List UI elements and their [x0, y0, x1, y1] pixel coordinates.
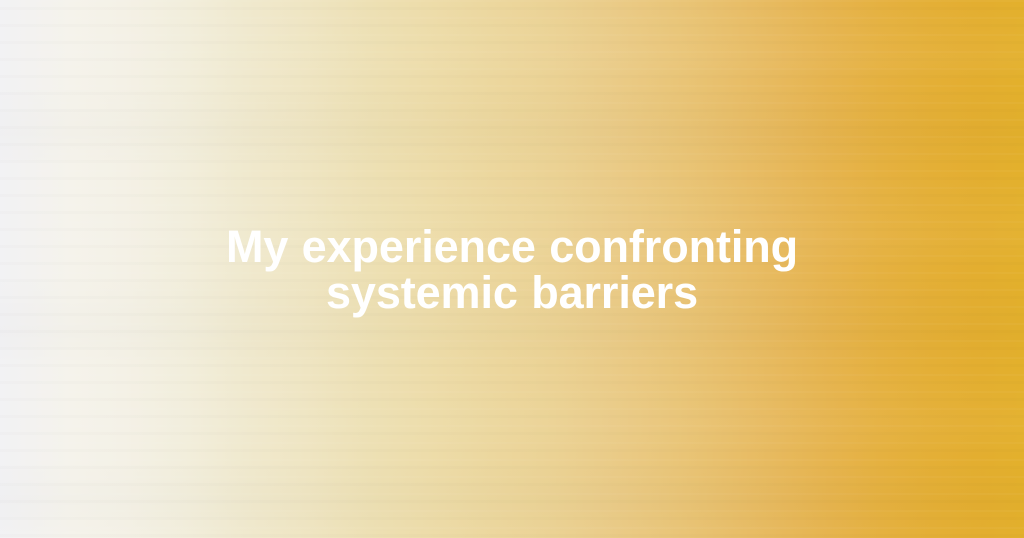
- banner-title: My experience confronting systemic barri…: [212, 224, 812, 316]
- hero-banner: My experience confronting systemic barri…: [0, 0, 1024, 538]
